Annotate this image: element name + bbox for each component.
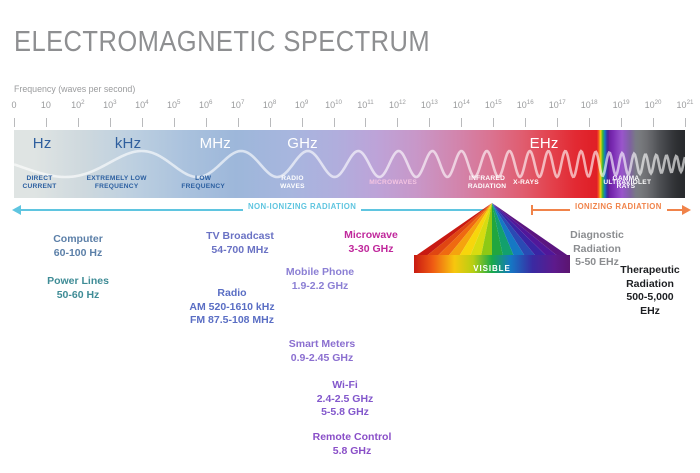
axis-tick-label: 1019 bbox=[613, 100, 630, 111]
axis-tick-label: 1010 bbox=[325, 100, 342, 111]
callout-value: 2.4-2.5 GHz 5-5.8 GHz bbox=[317, 393, 374, 420]
axis-tick-mark bbox=[461, 118, 462, 127]
axis-tick-mark bbox=[46, 118, 47, 127]
callout-item: Therapeutic Radiation500-5,000 EHz bbox=[620, 264, 680, 318]
axis-tick-label: 1018 bbox=[581, 100, 598, 111]
band-region-label: RADIO WAVES bbox=[280, 175, 305, 191]
axis-tick-mark bbox=[685, 118, 686, 127]
axis-tick-marks bbox=[0, 118, 700, 130]
axis-tick-mark bbox=[270, 118, 271, 127]
callout-value: 54-700 MHz bbox=[206, 244, 274, 258]
band-region-label: MICROWAVES bbox=[369, 179, 417, 187]
spectrum-band: HzkHzMHzGHzEHz DIRECT CURRENTEXTREMELY L… bbox=[14, 130, 685, 198]
callout-item: Microwave3-30 GHz bbox=[344, 229, 398, 256]
band-region-label: LOW FREQUENCY bbox=[181, 175, 225, 191]
non-ionizing-label: NON-IONIZING RADIATION bbox=[243, 202, 361, 211]
callout-title: Remote Control bbox=[313, 431, 392, 445]
band-region-label: DIRECT CURRENT bbox=[22, 175, 56, 191]
axis-tick-mark bbox=[365, 118, 366, 127]
axis-tick-label: 102 bbox=[71, 100, 84, 111]
axis-tick-label: 1015 bbox=[485, 100, 502, 111]
axis-tick-label: 1016 bbox=[517, 100, 534, 111]
band-region-label: INFRARED RADIATION bbox=[468, 175, 506, 191]
axis-tick-mark bbox=[589, 118, 590, 127]
band-unit-label: kHz bbox=[115, 135, 141, 152]
band-region-label: X-RAYS bbox=[513, 179, 539, 187]
axis-tick-label: 1011 bbox=[357, 100, 373, 111]
band-unit-label: EHz bbox=[530, 135, 559, 152]
callout-title: Radio bbox=[189, 287, 274, 301]
callout-title: Smart Meters bbox=[289, 338, 356, 352]
callout-value: 1.9-2.2 GHz bbox=[286, 280, 354, 294]
callout-value: AM 520-1610 kHz FM 87.5-108 MHz bbox=[189, 301, 274, 328]
callout-item: Smart Meters0.9-2.45 GHz bbox=[289, 338, 356, 365]
axis-tick-label: 1020 bbox=[645, 100, 662, 111]
axis-tick-mark bbox=[525, 118, 526, 127]
ionizing-arrowhead bbox=[682, 205, 691, 215]
callout-item: TV Broadcast54-700 MHz bbox=[206, 230, 274, 257]
axis-tick-label: 1017 bbox=[549, 100, 566, 111]
infographic-canvas: ELECTROMAGNETIC SPECTRUM Frequency (wave… bbox=[0, 0, 700, 473]
band-unit-label: Hz bbox=[33, 135, 52, 152]
axis-tick-label: 107 bbox=[231, 100, 244, 111]
non-ionizing-arrowhead bbox=[12, 205, 21, 215]
band-unit-label: GHz bbox=[287, 135, 318, 152]
axis-tick-mark bbox=[110, 118, 111, 127]
radiation-arrow-row: NON-IONIZING RADIATION IONIZING RADIATIO… bbox=[0, 200, 700, 222]
axis-tick-label: 10 bbox=[41, 100, 51, 111]
axis-tick-label: 104 bbox=[135, 100, 148, 111]
axis-caption: Frequency (waves per second) bbox=[14, 84, 135, 95]
callout-item: Power Lines50-60 Hz bbox=[47, 275, 109, 302]
axis-tick-mark bbox=[238, 118, 239, 127]
callout-title: TV Broadcast bbox=[206, 230, 274, 244]
axis-tick-mark bbox=[334, 118, 335, 127]
callout-item: Wi-Fi2.4-2.5 GHz 5-5.8 GHz bbox=[317, 379, 374, 420]
callout-item: RadioAM 520-1610 kHz FM 87.5-108 MHz bbox=[189, 287, 274, 328]
axis-tick-label: 1013 bbox=[421, 100, 438, 111]
axis-tick-mark bbox=[653, 118, 654, 127]
axis-tick-mark bbox=[397, 118, 398, 127]
band-region-label: GAMMA RAYS bbox=[612, 175, 639, 191]
axis-tick-labels: 0101021031041051061071081091010101110121… bbox=[0, 100, 700, 116]
axis-tick-mark bbox=[206, 118, 207, 127]
axis-tick-label: 106 bbox=[199, 100, 212, 111]
band-unit-label: MHz bbox=[200, 135, 231, 152]
axis-tick-mark bbox=[174, 118, 175, 127]
axis-tick-mark bbox=[78, 118, 79, 127]
callout-value: 50-60 Hz bbox=[47, 289, 109, 303]
axis-tick-mark bbox=[429, 118, 430, 127]
callout-value: 3-30 GHz bbox=[344, 243, 398, 257]
axis-tick-mark bbox=[493, 118, 494, 127]
callout-value: 0.9-2.45 GHz bbox=[289, 352, 356, 366]
callout-title: Mobile Phone bbox=[286, 266, 354, 280]
axis-tick-mark bbox=[621, 118, 622, 127]
callout-value: 60-100 Hz bbox=[53, 247, 103, 261]
axis-tick-label: 108 bbox=[263, 100, 276, 111]
axis-tick-label: 0 bbox=[11, 100, 16, 111]
axis-tick-label: 109 bbox=[295, 100, 308, 111]
axis-tick-label: 1021 bbox=[677, 100, 694, 111]
axis-tick-mark bbox=[557, 118, 558, 127]
callout-value: 500-5,000 EHz bbox=[620, 291, 680, 318]
callout-title: Power Lines bbox=[47, 275, 109, 289]
axis-tick-label: 1012 bbox=[389, 100, 406, 111]
callout-title: Microwave bbox=[344, 229, 398, 243]
callout-title: Diagnostic Radiation bbox=[546, 229, 649, 256]
callout-title: Therapeutic Radiation bbox=[620, 264, 680, 291]
callout-item: Mobile Phone1.9-2.2 GHz bbox=[286, 266, 354, 293]
callout-title: Wi-Fi bbox=[317, 379, 374, 393]
band-region-label: EXTREMELY LOW FREQUENCY bbox=[87, 175, 147, 191]
callout-value: 5.8 GHz bbox=[313, 445, 392, 459]
axis-tick-mark bbox=[142, 118, 143, 127]
axis-tick-label: 105 bbox=[167, 100, 180, 111]
callout-item: Computer60-100 Hz bbox=[53, 233, 103, 260]
axis-tick-mark bbox=[14, 118, 15, 127]
visible-label: VISIBLE bbox=[473, 264, 510, 273]
axis-tick-label: 103 bbox=[103, 100, 116, 111]
callout-title: Computer bbox=[53, 233, 103, 247]
axis-tick-mark bbox=[302, 118, 303, 127]
axis-tick-label: 1014 bbox=[453, 100, 470, 111]
callout-item: Remote Control5.8 GHz bbox=[313, 431, 392, 458]
page-title: ELECTROMAGNETIC SPECTRUM bbox=[14, 26, 430, 59]
